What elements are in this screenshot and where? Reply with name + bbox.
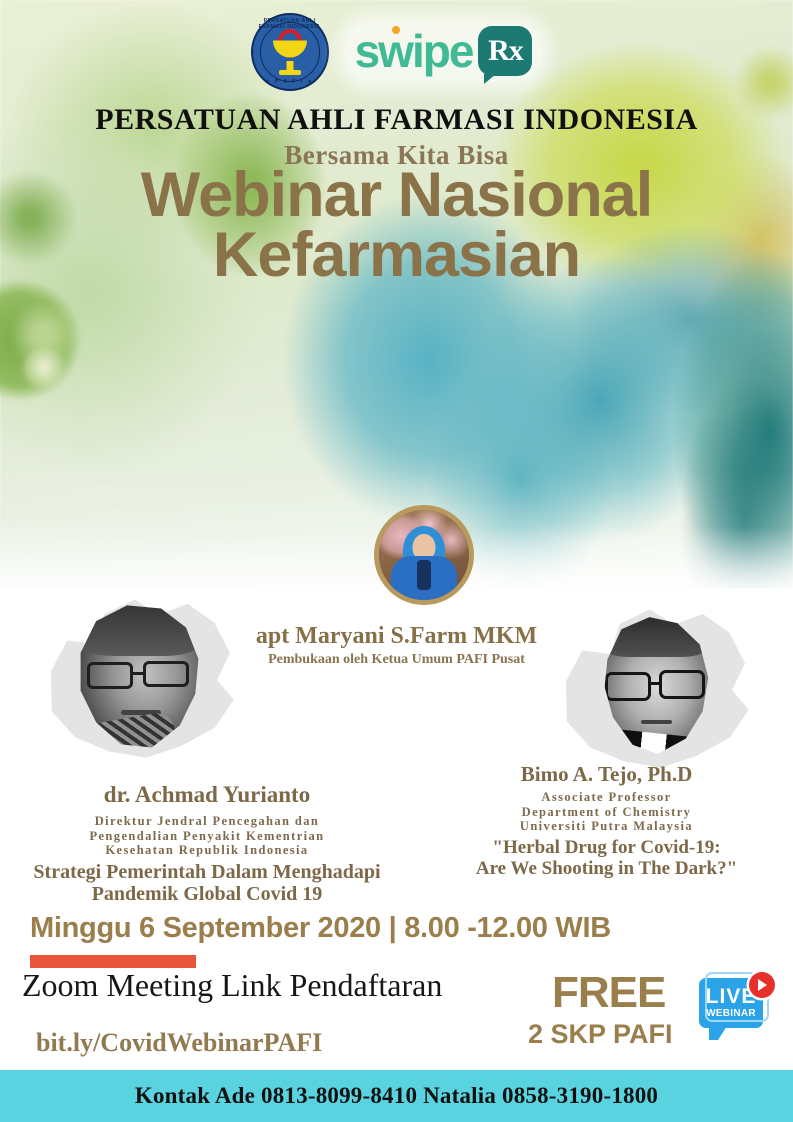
- event-datetime: Minggu 6 September 2020 | 8.00 -12.00 WI…: [30, 912, 611, 945]
- title-line-2: Kefarmasian: [0, 225, 793, 285]
- affiliation-line: Direktur Jendral Pencegahan dan: [0, 814, 422, 829]
- glasses-icon: [605, 672, 651, 701]
- center-speaker-avatar: [374, 505, 474, 605]
- glasses-icon: [143, 661, 190, 688]
- logo-row: PERSATUAN AHLI FARMASI INDONESIA ★ P A F…: [0, 8, 793, 96]
- affiliation-line: Department of Chemistry: [420, 805, 793, 820]
- topic-line: "Herbal Drug for Covid-19:: [420, 837, 793, 858]
- affiliation-line: Universiti Putra Malaysia: [420, 819, 793, 834]
- right-speaker-affiliation: Associate Professor Department of Chemis…: [420, 790, 793, 834]
- live-webinar-badge: LIVE WEBINAR: [697, 972, 775, 1044]
- pafi-bowl-foot-icon: [279, 70, 301, 75]
- left-speaker-affiliation: Direktur Jendral Pencegahan dan Pengenda…: [0, 814, 422, 858]
- left-speaker-topic: Strategi Pemerintah Dalam Menghadapi Pan…: [0, 861, 422, 906]
- topic-line: Pandemik Global Covid 19: [0, 883, 422, 905]
- right-speaker-topic: "Herbal Drug for Covid-19: Are We Shooti…: [420, 837, 793, 880]
- rx-badge-label: Rx: [488, 36, 523, 66]
- left-speaker-info: dr. Achmad Yurianto Direktur Jendral Pen…: [0, 782, 422, 905]
- affiliation-line: Associate Professor: [420, 790, 793, 805]
- contact-footer: Kontak Ade 0813-8099-8410 Natalia 0858-3…: [0, 1070, 793, 1122]
- rx-speech-bubble-icon: Rx: [478, 26, 532, 76]
- registration-link[interactable]: bit.ly/CovidWebinarPAFI: [36, 1028, 322, 1058]
- right-speaker-name: Bimo A. Tejo, Ph.D: [420, 762, 793, 787]
- swipe-dot-icon: [392, 26, 400, 34]
- price-label: FREE: [552, 968, 665, 1018]
- glasses-icon: [87, 662, 134, 689]
- contact-text: Kontak Ade 0813-8099-8410 Natalia 0858-3…: [135, 1083, 658, 1109]
- left-speaker-name: dr. Achmad Yurianto: [0, 782, 422, 808]
- portrait-mouth: [641, 720, 672, 724]
- glasses-bridge: [133, 672, 144, 675]
- pafi-logo-bottom-text: ★ P A F I ★: [253, 79, 327, 85]
- avatar-collar: [417, 560, 431, 590]
- credits-label: 2 SKP PAFI: [528, 1019, 673, 1050]
- topic-line: Are We Shooting in The Dark?": [420, 858, 793, 879]
- live-badge-line2: WEBINAR: [703, 1008, 759, 1019]
- webinar-poster: PERSATUAN AHLI FARMASI INDONESIA ★ P A F…: [0, 0, 793, 1122]
- swipe-wordmark: swipe: [355, 28, 473, 74]
- glasses-bridge: [649, 682, 660, 685]
- right-speaker-portrait: [555, 595, 755, 775]
- right-speaker-info: Bimo A. Tejo, Ph.D Associate Professor D…: [420, 762, 793, 879]
- pafi-logo-icon: PERSATUAN AHLI FARMASI INDONESIA ★ P A F…: [251, 13, 329, 91]
- organization-name: PERSATUAN AHLI FARMASI INDONESIA: [0, 103, 793, 137]
- glasses-icon: [659, 670, 705, 699]
- virus-particle-icon: [22, 346, 66, 390]
- play-button-icon: [749, 972, 775, 998]
- registration-label: Zoom Meeting Link Pendaftaran: [22, 967, 442, 1004]
- swiperx-logo: swipe Rx: [345, 22, 543, 82]
- affiliation-line: Kesehatan Republik Indonesia: [0, 843, 422, 858]
- left-speaker-portrait: [40, 585, 240, 765]
- topic-line: Strategi Pemerintah Dalam Menghadapi: [0, 861, 422, 883]
- page-title: Webinar Nasional Kefarmasian: [0, 165, 793, 286]
- affiliation-line: Pengendalian Penyakit Kementrian: [0, 829, 422, 844]
